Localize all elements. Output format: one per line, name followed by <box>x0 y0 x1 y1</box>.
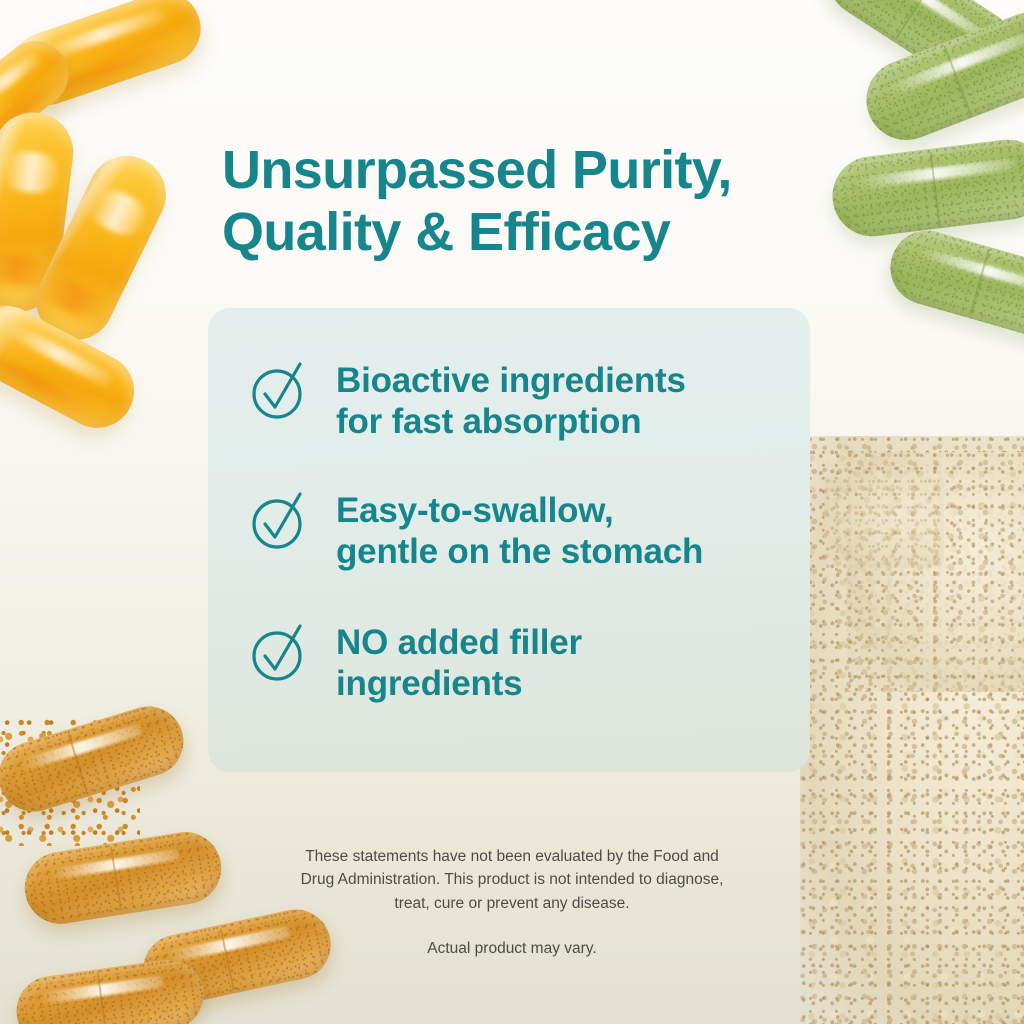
circle-check-icon <box>248 360 310 422</box>
benefit-line: NO added filler <box>336 622 582 663</box>
disclaimer-line: treat, cure or prevent any disease. <box>212 892 812 915</box>
benefit-line: for fast absorption <box>336 401 686 442</box>
benefit-item-easy-to-swallow: Easy-to-swallow, gentle on the stomach <box>248 488 703 573</box>
benefit-line: ingredients <box>336 663 582 704</box>
benefit-item-no-fillers: NO added filler ingredients <box>248 620 582 705</box>
promo-image: Unsurpassed Purity, Quality & Efficacy B… <box>0 0 1024 1024</box>
benefit-item-bioactive: Bioactive ingredients for fast absorptio… <box>248 358 686 443</box>
disclaimer-line: Drug Administration. This product is not… <box>212 868 812 891</box>
circle-check-icon <box>248 490 310 552</box>
circle-check-icon <box>248 622 310 684</box>
disclaimer-spacer <box>212 915 812 937</box>
page-title: Unsurpassed Purity, Quality & Efficacy <box>222 140 832 263</box>
benefits-card: Bioactive ingredients for fast absorptio… <box>208 308 810 772</box>
benefit-line: Easy-to-swallow, <box>336 490 703 531</box>
benefit-line: Bioactive ingredients <box>336 360 686 401</box>
benefit-text: NO added filler ingredients <box>336 620 582 705</box>
headline-line-2: Quality & Efficacy <box>222 202 832 264</box>
benefit-line: gentle on the stomach <box>336 531 703 572</box>
headline-line-1: Unsurpassed Purity, <box>222 140 832 202</box>
benefit-text: Bioactive ingredients for fast absorptio… <box>336 358 686 443</box>
benefit-text: Easy-to-swallow, gentle on the stomach <box>336 488 703 573</box>
content-layer: Unsurpassed Purity, Quality & Efficacy B… <box>0 0 1024 1024</box>
fda-disclaimer: These statements have not been evaluated… <box>212 845 812 960</box>
product-variance-note: Actual product may vary. <box>212 937 812 960</box>
disclaimer-line: These statements have not been evaluated… <box>212 845 812 868</box>
